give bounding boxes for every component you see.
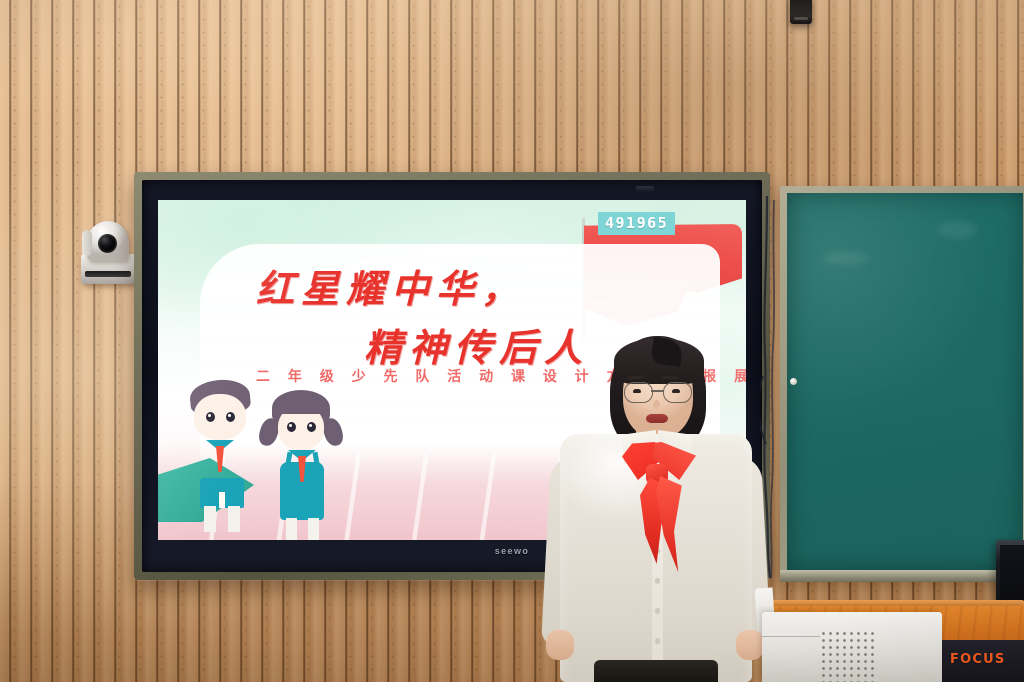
presenter-trousers xyxy=(594,660,718,682)
boy-eye-left xyxy=(206,412,215,422)
classroom-photo-scene: 红星耀中华， 精神传后人 二 年 级 少 先 队 活 动 课 设 计 方 案 汇… xyxy=(0,0,1024,682)
ceiling-sensor-icon xyxy=(790,0,812,24)
presenter-hand-right xyxy=(736,630,764,660)
girl-eye-left xyxy=(287,422,296,432)
chalk-smudge xyxy=(823,251,869,265)
presenter-glasses-icon xyxy=(624,382,694,402)
chalk-smudge xyxy=(899,363,959,385)
video-watermark-badge: 491965 xyxy=(598,212,675,235)
shirt-button xyxy=(655,608,660,613)
presenter-nose xyxy=(653,400,660,409)
speaker-grille-icon xyxy=(820,630,876,682)
presenter-figure xyxy=(540,330,770,682)
chalk-smudge xyxy=(953,527,991,539)
shirt-button xyxy=(655,578,660,583)
boy-eye-right xyxy=(226,412,235,422)
chalk-smudge xyxy=(937,221,977,239)
cartoon-girl-graphic xyxy=(262,390,348,540)
boy-leg-left xyxy=(204,506,216,532)
chalkboard-slide-knob[interactable] xyxy=(790,378,797,385)
girl-leg-right xyxy=(308,518,319,540)
boy-shorts xyxy=(200,478,244,508)
shirt-button xyxy=(655,638,660,643)
slide-title-line-1: 红星耀中华， xyxy=(256,258,688,313)
presenter-mouth xyxy=(646,414,668,423)
camera-lens-icon xyxy=(98,234,117,253)
glasses-bridge xyxy=(651,390,664,392)
camera-side-arm xyxy=(82,230,92,256)
presenter-eye-left xyxy=(633,389,641,393)
girl-eye-right xyxy=(307,422,316,432)
ptz-camera xyxy=(78,216,138,284)
chalkboard-surface xyxy=(787,193,1023,571)
cartoon-boy-graphic xyxy=(184,380,264,530)
girl-bangs xyxy=(274,396,328,414)
presenter-hand-left xyxy=(546,630,574,660)
boy-red-necktie xyxy=(216,446,224,472)
boy-leg-right xyxy=(228,506,240,532)
podium-brand-label: FOCUS xyxy=(950,652,1005,667)
girl-leg-left xyxy=(286,518,297,540)
boy-face xyxy=(194,394,246,440)
camera-vent-slot xyxy=(85,271,131,277)
display-ir-sensor-icon xyxy=(636,186,654,193)
speaker-panel-edge xyxy=(762,636,820,682)
chalkboard-chalk-tray xyxy=(780,570,1024,582)
presenter-eye-right xyxy=(672,389,680,393)
